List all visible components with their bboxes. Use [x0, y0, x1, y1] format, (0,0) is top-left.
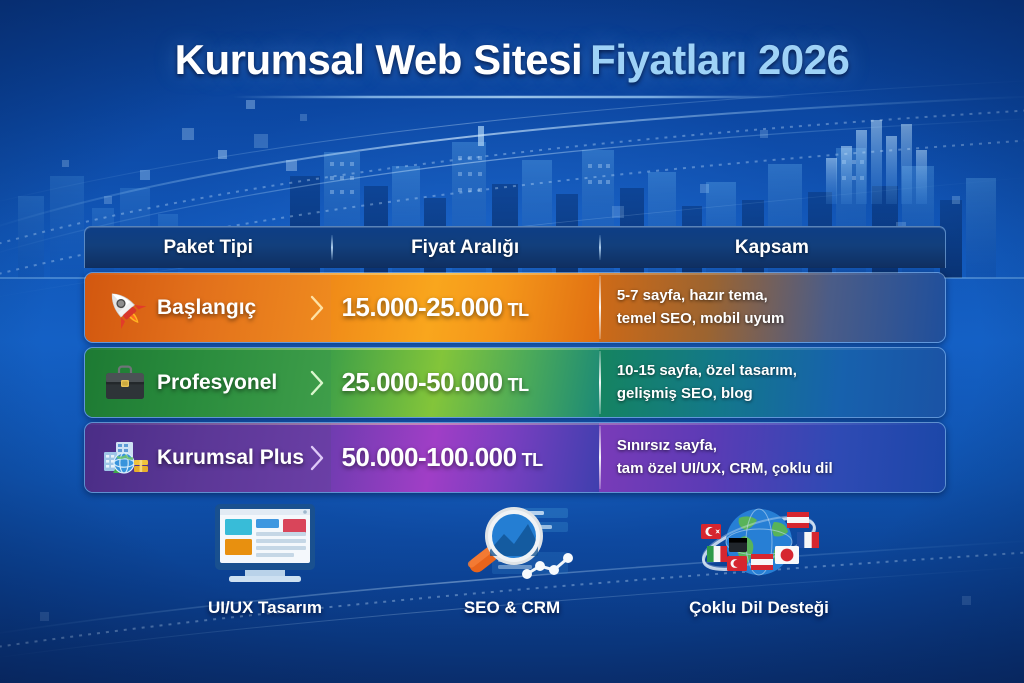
- table-row[interactable]: Kurumsal Plus 50.000-100.000TL Sınırsız …: [84, 422, 946, 493]
- package-cell: Profesyonel: [85, 348, 331, 417]
- scope-cell: 10-15 sayfa, özel tasarım, gelişmiş SEO,…: [599, 348, 945, 417]
- infographic-canvas: Kurumsal Web SitesiFiyatları 2026 Paket …: [0, 0, 1024, 683]
- price-currency: TL: [522, 450, 543, 470]
- chevron-right-icon: [310, 445, 325, 471]
- feature-label: Çoklu Dil Desteği: [689, 598, 829, 618]
- table-row[interactable]: Başlangıç 15.000-25.000TL 5-7 sayfa, haz…: [84, 272, 946, 343]
- column-header-price: Fiyat Aralığı: [331, 227, 598, 268]
- scope-line-1: 10-15 sayfa, özel tasarım,: [617, 360, 945, 383]
- feature-label: SEO & CRM: [464, 598, 560, 618]
- table-row[interactable]: Profesyonel 25.000-50.000TL 10-15 sayfa,…: [84, 347, 946, 418]
- scope-cell: Sınırsız sayfa, tam özel UI/UX, CRM, çok…: [599, 423, 945, 492]
- flag-dark-center: [729, 538, 747, 552]
- package-cell: Başlangıç: [85, 273, 331, 342]
- price-value: 25.000-50.000TL: [341, 367, 528, 398]
- package-name: Profesyonel: [157, 371, 277, 395]
- flag-austria-top: [787, 512, 809, 528]
- monitor-layout-icon: [185, 500, 345, 588]
- scope-line-1: Sınırsız sayfa,: [617, 435, 945, 458]
- title-block: Kurumsal Web SitesiFiyatları 2026: [0, 36, 1024, 84]
- table-header-row: Paket Tipi Fiyat Aralığı Kapsam: [84, 226, 946, 268]
- flag-austria-bottom: [751, 554, 773, 570]
- price-currency: TL: [508, 300, 529, 320]
- scope-cell: 5-7 sayfa, hazır tema, temel SEO, mobil …: [599, 273, 945, 342]
- price-cell: 50.000-100.000TL: [331, 423, 598, 492]
- title-primary: Kurumsal Web Sitesi: [175, 36, 583, 83]
- flag-turkey-left: [701, 524, 721, 539]
- scope-line-2: tam özel UI/UX, CRM, çoklu dil: [617, 458, 945, 481]
- column-header-scope: Kapsam: [599, 227, 945, 268]
- flag-turkey-bottom: [727, 556, 747, 571]
- title-underline: [232, 96, 792, 98]
- package-name: Kurumsal Plus: [157, 446, 304, 470]
- enterprise-globe-icon: [99, 435, 151, 481]
- magnifier-chart-icon: [432, 500, 592, 588]
- title-accent: Fiyatları 2026: [590, 36, 849, 83]
- price-cell: 25.000-50.000TL: [331, 348, 598, 417]
- scope-line-2: temel SEO, mobil uyum: [617, 308, 945, 331]
- feature-item-uiux[interactable]: UI/UX Tasarım: [150, 500, 380, 618]
- flag-japan: [775, 546, 799, 564]
- price-cell: 15.000-25.000TL: [331, 273, 598, 342]
- chevron-right-icon: [310, 295, 325, 321]
- scope-line-1: 5-7 sayfa, hazır tema,: [617, 285, 945, 308]
- feature-item-seo-crm[interactable]: SEO & CRM: [397, 500, 627, 618]
- scope-line-2: gelişmiş SEO, blog: [617, 383, 945, 406]
- rocket-icon: [99, 285, 151, 331]
- feature-label: UI/UX Tasarım: [208, 598, 322, 618]
- package-name: Başlangıç: [157, 296, 256, 320]
- feature-item-multilang[interactable]: Çoklu Dil Desteği: [644, 500, 874, 618]
- chevron-right-icon: [310, 370, 325, 396]
- price-value: 50.000-100.000TL: [341, 442, 542, 473]
- package-cell: Kurumsal Plus: [85, 423, 331, 492]
- briefcase-icon: [99, 360, 151, 406]
- column-header-package: Paket Tipi: [85, 227, 331, 268]
- feature-strip: UI/UX Tasarım: [150, 500, 874, 618]
- flag-france-right: [797, 532, 819, 548]
- pricing-table: Paket Tipi Fiyat Aralığı Kapsam: [84, 226, 946, 493]
- price-value: 15.000-25.000TL: [341, 292, 528, 323]
- page-title: Kurumsal Web SitesiFiyatları 2026: [0, 36, 1024, 84]
- flag-italy-left: [707, 546, 727, 562]
- price-currency: TL: [508, 375, 529, 395]
- globe-flags-icon: [679, 500, 839, 588]
